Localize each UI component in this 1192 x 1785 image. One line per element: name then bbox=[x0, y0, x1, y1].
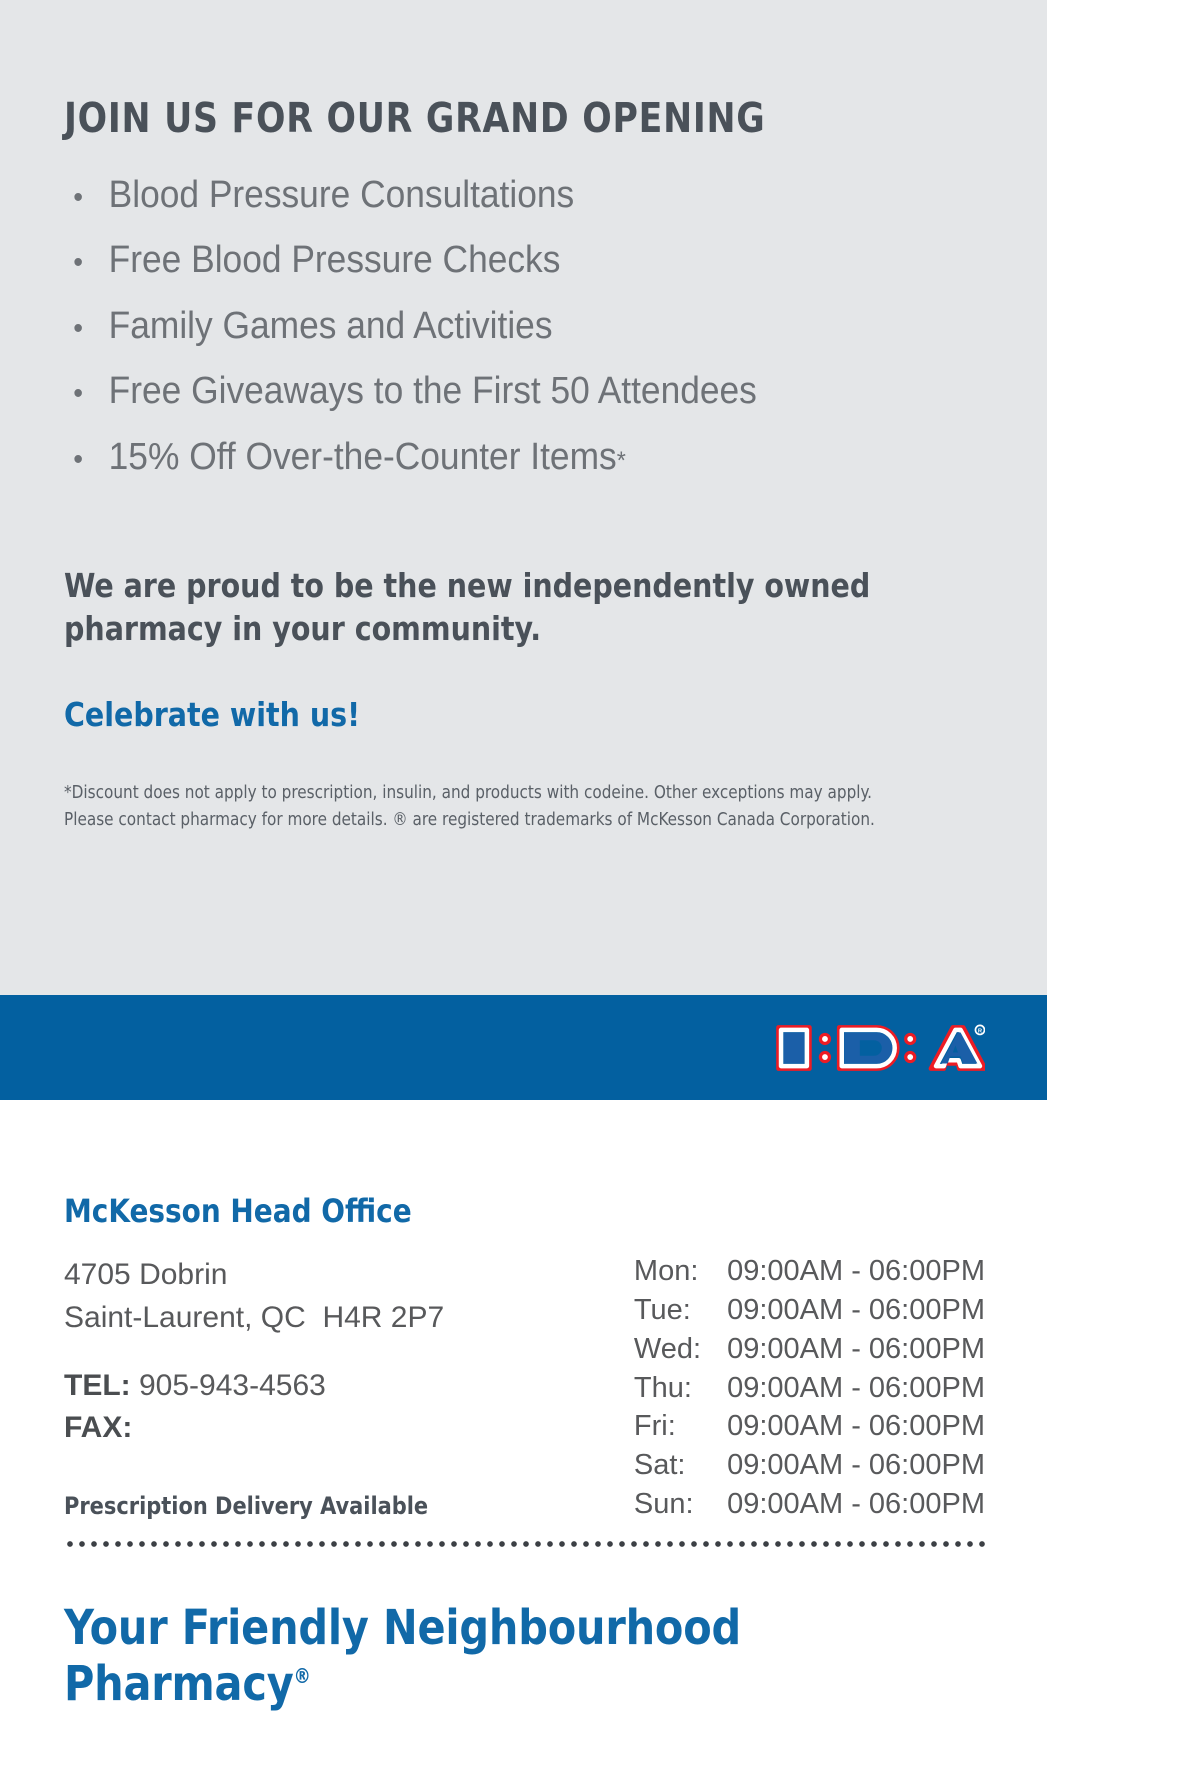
list-item-label: Free Giveaways to the First 50 Attendees bbox=[109, 359, 757, 424]
table-row: Tue: 09:00AM - 06:00PM bbox=[634, 1291, 985, 1330]
telephone-row: TEL: 905-943-4563 bbox=[64, 1365, 444, 1406]
hours-day: Mon: bbox=[634, 1252, 727, 1291]
hours-day: Sat: bbox=[634, 1446, 727, 1485]
bullet-icon: • bbox=[64, 183, 109, 213]
footer-tagline: Your Friendly Neighbourhood Pharmacy® bbox=[64, 1600, 948, 1712]
promo-offer-list: • Blood Pressure Consultations • Free Bl… bbox=[64, 163, 985, 490]
registered-mark-icon: ® bbox=[294, 1664, 311, 1688]
hours-day: Sun: bbox=[634, 1485, 727, 1524]
telephone-value: 905-943-4563 bbox=[139, 1369, 326, 1402]
promo-panel: JOIN US FOR OUR GRAND OPENING • Blood Pr… bbox=[0, 0, 1047, 995]
hours-day: Fri: bbox=[634, 1407, 727, 1446]
address-line-1: 4705 Dobrin bbox=[64, 1254, 444, 1297]
contact-details: 4705 Dobrin Saint-Laurent, QC H4R 2P7 TE… bbox=[64, 1252, 444, 1520]
promo-statement: We are proud to be the new independently… bbox=[64, 564, 899, 651]
table-row: Wed: 09:00AM - 06:00PM bbox=[634, 1330, 985, 1369]
ida-logo: R bbox=[772, 1017, 985, 1079]
promo-disclaimer: *Discount does not apply to prescription… bbox=[64, 780, 957, 834]
bullet-icon: • bbox=[64, 248, 109, 278]
promo-celebrate-line: Celebrate with us! bbox=[64, 695, 948, 734]
hours-time: 09:00AM - 06:00PM bbox=[727, 1446, 985, 1485]
telephone-label: TEL: bbox=[64, 1369, 131, 1402]
list-item: • Family Games and Activities bbox=[64, 294, 921, 359]
bullet-icon: • bbox=[64, 314, 109, 344]
list-item: • Free Blood Pressure Checks bbox=[64, 228, 921, 293]
disclaimer-line-1: *Discount does not apply to prescription… bbox=[64, 783, 872, 803]
fax-label: FAX: bbox=[64, 1411, 132, 1444]
hours-day: Tue: bbox=[634, 1291, 727, 1330]
table-row: Sun: 09:00AM - 06:00PM bbox=[634, 1485, 985, 1524]
hours-time: 09:00AM - 06:00PM bbox=[727, 1407, 985, 1446]
table-row: Thu: 09:00AM - 06:00PM bbox=[634, 1369, 985, 1408]
hours-day: Thu: bbox=[634, 1369, 727, 1408]
delivery-note: Prescription Delivery Available bbox=[64, 1492, 433, 1520]
address-line-2: Saint-Laurent, QC H4R 2P7 bbox=[64, 1297, 444, 1340]
list-item-label: Blood Pressure Consultations bbox=[109, 163, 575, 228]
hours-time: 09:00AM - 06:00PM bbox=[727, 1291, 985, 1330]
store-name: McKesson Head Office bbox=[64, 1192, 957, 1230]
list-item: • Blood Pressure Consultations bbox=[64, 163, 921, 228]
fax-row: FAX: bbox=[64, 1407, 444, 1448]
table-row: Fri: 09:00AM - 06:00PM bbox=[634, 1407, 985, 1446]
table-row: Sat: 09:00AM - 06:00PM bbox=[634, 1446, 985, 1485]
list-item-label: 15% Off Over-the-Counter Items bbox=[109, 425, 617, 490]
footer-tagline-text: Your Friendly Neighbourhood Pharmacy bbox=[64, 1600, 741, 1712]
contact-section: McKesson Head Office 4705 Dobrin Saint-L… bbox=[0, 1100, 1047, 1712]
hours-time: 09:00AM - 06:00PM bbox=[727, 1252, 985, 1291]
hours-day: Wed: bbox=[634, 1330, 727, 1369]
hours-time: 09:00AM - 06:00PM bbox=[727, 1330, 985, 1369]
disclaimer-line-2: Please contact pharmacy for more details… bbox=[64, 810, 875, 830]
list-item: • Free Giveaways to the First 50 Attende… bbox=[64, 359, 921, 424]
list-item-label: Free Blood Pressure Checks bbox=[109, 228, 561, 293]
list-item: • 15% Off Over-the-Counter Items* bbox=[64, 425, 921, 490]
flyer-page: JOIN US FOR OUR GRAND OPENING • Blood Pr… bbox=[0, 0, 1047, 1785]
table-row: Mon: 09:00AM - 06:00PM bbox=[634, 1252, 985, 1291]
brand-band: R bbox=[0, 995, 1047, 1100]
footnote-asterisk: * bbox=[617, 440, 626, 483]
dotted-divider bbox=[64, 1540, 985, 1548]
list-item-label: Family Games and Activities bbox=[109, 294, 553, 359]
hours-time: 09:00AM - 06:00PM bbox=[727, 1485, 985, 1524]
phone-block: TEL: 905-943-4563 FAX: bbox=[64, 1365, 444, 1448]
store-hours-table: Mon: 09:00AM - 06:00PM Tue: 09:00AM - 06… bbox=[634, 1252, 985, 1524]
bullet-icon: • bbox=[64, 379, 109, 409]
hours-time: 09:00AM - 06:00PM bbox=[727, 1369, 985, 1408]
page-title: JOIN US FOR OUR GRAND OPENING bbox=[64, 96, 930, 141]
bullet-icon: • bbox=[64, 445, 109, 475]
